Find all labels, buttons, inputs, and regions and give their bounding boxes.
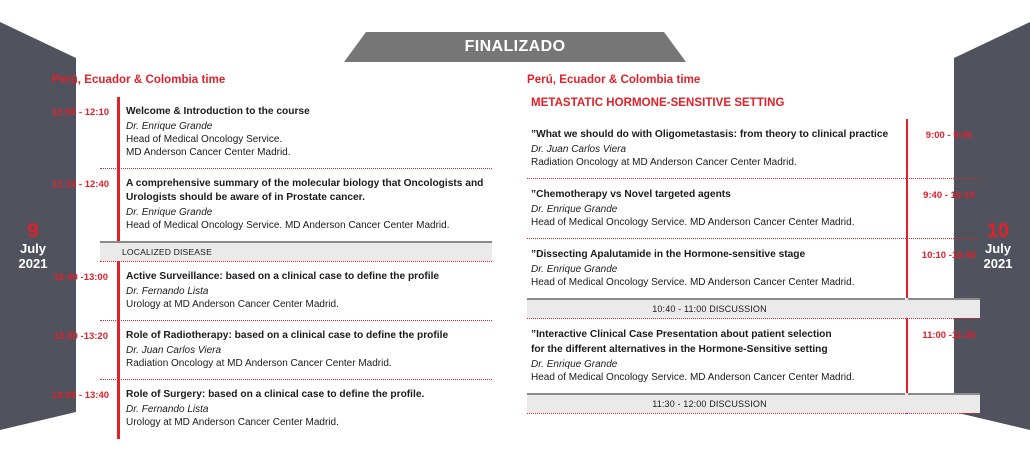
session-speaker: Dr. Enrique Grande — [126, 120, 492, 133]
discussion-band-label: 10:40 - 11:00 DISCUSSION — [527, 304, 980, 314]
session-affiliation: Head of Medical Oncology Service. MD And… — [531, 276, 900, 289]
session-body: ”What we should do with Oligometastasis:… — [527, 128, 908, 169]
agenda-column-day-2: Perú, Ecuador & Colombia time METASTATIC… — [527, 74, 980, 414]
discussion-band: 10:40 - 11:00 DISCUSSION — [527, 298, 980, 318]
section-header-metastatic: METASTATIC HORMONE-SENSITIVE SETTING — [531, 97, 980, 109]
session-time: 11:00 -11:30 — [908, 328, 980, 341]
session-row[interactable]: 12:10 - 12:40 A comprehensive summary of… — [52, 169, 492, 241]
session-row[interactable]: ”Chemotherapy vs Novel targeted agents D… — [527, 179, 980, 238]
agenda-column-day-1: Perú, Ecuador & Colombia time 12:00 - 12… — [52, 74, 492, 439]
session-speaker: Dr. Fernando Lista — [126, 403, 492, 416]
status-badge: FINALIZADO — [465, 38, 566, 56]
session-body: ”Chemotherapy vs Novel targeted agents D… — [527, 188, 908, 229]
session-affiliation: Head of Medical Oncology Service. MD And… — [531, 216, 900, 229]
session-row[interactable]: 13:20 - 13:40 Role of Surgery: based on … — [52, 380, 492, 438]
session-affiliation: Radiation Oncology at MD Anderson Cancer… — [126, 357, 492, 370]
session-title: Active Surveillance: based on a clinical… — [126, 270, 492, 284]
session-affiliation: Radiation Oncology at MD Anderson Cancer… — [531, 156, 900, 169]
session-title: Role of Surgery: based on a clinical cas… — [126, 388, 492, 402]
timeline-right: ”What we should do with Oligometastasis:… — [527, 119, 980, 414]
session-time: 12:10 - 12:40 — [52, 177, 117, 190]
status-banner: FINALIZADO — [344, 32, 686, 62]
session-row[interactable]: ”Interactive Clinical Case Presentation … — [527, 319, 980, 393]
session-body: A comprehensive summary of the molecular… — [117, 177, 492, 232]
session-time: 13:20 - 13:40 — [52, 388, 117, 401]
session-title: Welcome & Introduction to the course — [126, 105, 492, 119]
session-time: 9:40 - 10:10 — [908, 188, 980, 201]
session-time: 10:10 -10:40 — [908, 248, 980, 261]
session-row[interactable]: 12:00 - 12:10 Welcome & Introduction to … — [52, 97, 492, 168]
session-title: A comprehensive summary of the molecular… — [126, 177, 492, 204]
timezone-header-right: Perú, Ecuador & Colombia time — [527, 74, 980, 86]
session-time: 13:00 -13:20 — [52, 329, 117, 342]
session-row[interactable]: ”What we should do with Oligometastasis:… — [527, 119, 980, 178]
session-time: 9:00 - 9:40 — [908, 128, 980, 141]
session-affiliation: MD Anderson Cancer Center Madrid. — [126, 146, 492, 159]
timeline-left: 12:00 - 12:10 Welcome & Introduction to … — [52, 97, 492, 439]
timezone-header-left: Perú, Ecuador & Colombia time — [52, 74, 492, 86]
session-speaker: Dr. Enrique Grande — [531, 358, 900, 371]
session-title: ”Dissecting Apalutamide in the Hormone-s… — [531, 248, 900, 262]
session-speaker: Dr. Enrique Grande — [126, 206, 492, 219]
session-affiliation: Urology at MD Anderson Cancer Center Mad… — [126, 298, 492, 311]
session-speaker: Dr. Juan Carlos Viera — [531, 143, 900, 156]
session-body: Role of Surgery: based on a clinical cas… — [117, 388, 492, 429]
session-body: Welcome & Introduction to the course Dr.… — [117, 105, 492, 159]
session-time: 12:00 - 12:10 — [52, 105, 117, 118]
section-band-localized-disease: LOCALIZED DISEASE — [100, 241, 492, 261]
row-separator — [527, 413, 980, 414]
discussion-band-label: 11:30 - 12:00 DISCUSSION — [527, 399, 980, 409]
session-body: Role of Radiotherapy: based on a clinica… — [117, 329, 492, 370]
session-affiliation: Urology at MD Anderson Cancer Center Mad… — [126, 416, 492, 429]
session-affiliation: Head of Medical Oncology Service. MD And… — [126, 219, 492, 232]
agenda-page: 9 July 2021 10 July 2021 FINALIZADO Perú… — [0, 0, 1030, 450]
session-body: ”Interactive Clinical Case Presentation … — [527, 328, 908, 384]
session-speaker: Dr. Juan Carlos Viera — [126, 344, 492, 357]
session-row[interactable]: 13:00 -13:20 Role of Radiotherapy: based… — [52, 321, 492, 379]
session-title: Role of Radiotherapy: based on a clinica… — [126, 329, 492, 343]
session-title: ”What we should do with Oligometastasis:… — [531, 128, 900, 142]
session-title: ”Interactive Clinical Case Presentation … — [531, 328, 900, 342]
session-body: Active Surveillance: based on a clinical… — [117, 270, 492, 311]
session-time: 12:40 -13:00 — [52, 270, 117, 283]
session-speaker: Dr. Fernando Lista — [126, 285, 492, 298]
discussion-band: 11:30 - 12:00 DISCUSSION — [527, 393, 980, 413]
session-row[interactable]: 12:40 -13:00 Active Surveillance: based … — [52, 262, 492, 320]
session-title: ”Chemotherapy vs Novel targeted agents — [531, 188, 900, 202]
session-row[interactable]: ”Dissecting Apalutamide in the Hormone-s… — [527, 239, 980, 298]
session-title-line2: for the different alternatives in the Ho… — [531, 343, 900, 357]
session-speaker: Dr. Enrique Grande — [531, 203, 900, 216]
session-affiliation: Head of Medical Oncology Service. — [126, 133, 492, 146]
session-affiliation: Head of Medical Oncology Service. MD And… — [531, 371, 900, 384]
session-speaker: Dr. Enrique Grande — [531, 263, 900, 276]
session-body: ”Dissecting Apalutamide in the Hormone-s… — [527, 248, 908, 289]
section-band-label: LOCALIZED DISEASE — [100, 247, 212, 257]
